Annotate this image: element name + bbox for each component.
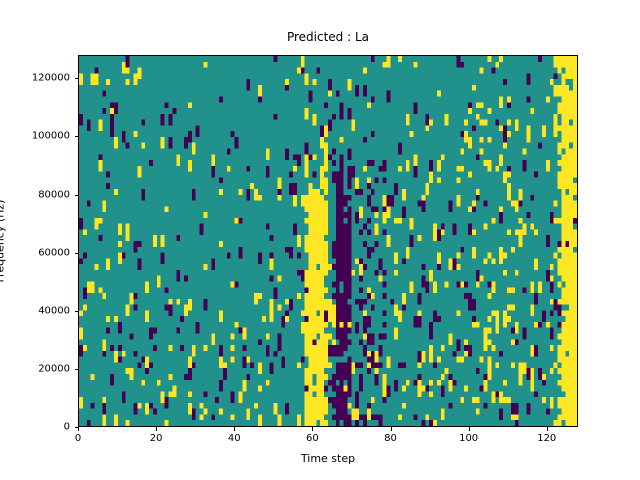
matplotlib-figure: Predicted : La 020406080100120 020000400…	[0, 0, 640, 480]
x-tick-label: 60	[306, 433, 319, 444]
page-title: Predicted : La	[78, 30, 578, 44]
x-tick-mark	[547, 427, 548, 431]
x-tick-label: 20	[150, 433, 163, 444]
y-tick-mark	[75, 427, 79, 428]
y-tick-mark	[75, 253, 79, 254]
heatmap-axes	[78, 55, 578, 427]
y-tick-mark	[75, 195, 79, 196]
x-tick-label: 100	[459, 433, 478, 444]
y-tick-mark	[75, 136, 79, 137]
x-tick-label: 40	[228, 433, 241, 444]
x-tick-mark	[78, 427, 79, 431]
y-tick-label: 20000	[38, 363, 70, 374]
x-tick-mark	[469, 427, 470, 431]
x-axis-label: Time step	[78, 452, 578, 465]
y-tick-label: 120000	[32, 73, 70, 84]
y-tick-mark	[75, 78, 79, 79]
y-tick-mark	[75, 311, 79, 312]
x-tick-mark	[312, 427, 313, 431]
y-tick-label: 80000	[38, 189, 70, 200]
x-tick-label: 120	[537, 433, 556, 444]
y-tick-label: 0	[64, 422, 70, 433]
y-tick-mark	[75, 369, 79, 370]
x-tick-label: 0	[75, 433, 81, 444]
y-tick-label: 40000	[38, 305, 70, 316]
x-tick-mark	[391, 427, 392, 431]
x-tick-mark	[234, 427, 235, 431]
y-tick-label: 60000	[38, 247, 70, 258]
heatmap-image	[79, 56, 577, 426]
x-tick-label: 80	[384, 433, 397, 444]
x-tick-mark	[156, 427, 157, 431]
y-axis-label: Frequency (Hz)	[0, 200, 7, 283]
y-tick-label: 100000	[32, 131, 70, 142]
